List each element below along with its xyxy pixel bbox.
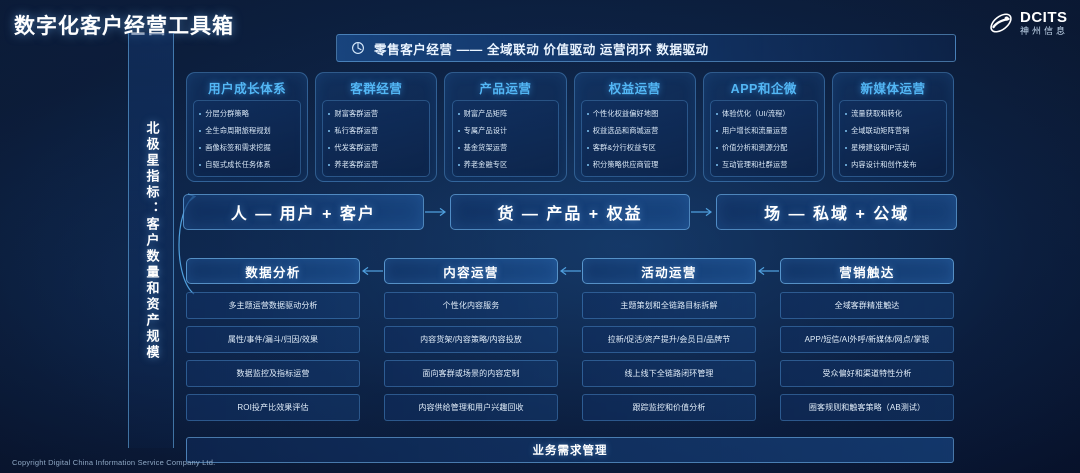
north-star-label: 北极星指标：客户数量和资产规模 <box>144 121 159 361</box>
card-bullet: 体验优化（UI/流程） <box>716 109 814 119</box>
card-bullet: 权益选品和商城运营 <box>587 126 685 136</box>
section-cell[interactable]: 内容供给管理和用户兴趣回收 <box>384 394 558 421</box>
bullet-dot-icon <box>328 113 330 115</box>
card-bullet: 自驱式成长任务体系 <box>199 160 297 170</box>
card-bullet-label: 客群&分行权益专区 <box>593 143 656 153</box>
capability-card[interactable]: 新媒体运营 流量获取和转化 全域联动矩阵营销 星榜建设和IP活动 内容设计和创作… <box>832 72 954 182</box>
card-body: 分层分群策略 全生命周期旅程规划 画像标签和需求挖掘 自驱式成长任务体系 <box>193 100 301 177</box>
capability-card[interactable]: 权益运营 个性化权益偏好地图 权益选品和商城运营 客群&分行权益专区 积分策略供… <box>574 72 696 182</box>
card-bullet-label: 养老客群运营 <box>334 160 378 170</box>
card-bullet: 积分策略供应商管理 <box>587 160 685 170</box>
section-cell[interactable]: 个性化内容服务 <box>384 292 558 319</box>
bullet-dot-icon <box>587 113 589 115</box>
card-bullet: 全域联动矩阵营销 <box>845 126 943 136</box>
bullet-dot-icon <box>587 130 589 132</box>
section-cell-label: 面向客群或场景的内容定制 <box>422 368 519 379</box>
section-column-data-analysis: 数据分析 多主题运营数据驱动分析 属性/事件/漏斗/归因/效果 数据监控及指标运… <box>186 258 360 428</box>
section-cell[interactable]: 跟踪监控和价值分析 <box>582 394 756 421</box>
section-cell-label: 拉新/促活/资产提升/会员日/品牌节 <box>608 334 731 345</box>
card-bullet-label: 积分策略供应商管理 <box>593 160 659 170</box>
section-cell[interactable]: ROI投产比效果评估 <box>186 394 360 421</box>
card-bullet-label: 体验优化（UI/流程） <box>722 109 790 119</box>
capability-card[interactable]: 产品运营 财富产品矩阵 专属产品设计 基金货架运营 养老金融专区 <box>444 72 566 182</box>
card-bullet-label: 权益选品和商城运营 <box>593 126 659 136</box>
card-bullet: 养老金融专区 <box>458 160 556 170</box>
section-cell-label: 受众偏好和渠道特性分析 <box>822 368 911 379</box>
card-bullet: 个性化权益偏好地图 <box>587 109 685 119</box>
bullet-dot-icon <box>328 164 330 166</box>
slide-canvas: 数字化客户经营工具箱 DCITS 神州信息 北极星指标：客户数量和资产规模 <box>0 0 1080 473</box>
card-bullet-label: 画像标签和需求挖掘 <box>205 143 271 153</box>
section-cell-label: 数据监控及指标运营 <box>237 368 310 379</box>
capability-card[interactable]: 用户成长体系 分层分群策略 全生命周期旅程规划 画像标签和需求挖掘 自驱式成长任… <box>186 72 308 182</box>
flow-box-goods[interactable]: 货 — 产品 + 权益 <box>450 194 691 230</box>
section-cell-label: ROI投产比效果评估 <box>237 402 308 413</box>
arrow-left-icon <box>558 258 582 284</box>
section-column-campaign-ops: 活动运营 主题策划和全链路目标拆解 拉新/促活/资产提升/会员日/品牌节 线上线… <box>582 258 756 428</box>
brand-logo: DCITS 神州信息 <box>988 10 1068 36</box>
footer-bar-label: 业务需求管理 <box>533 442 608 458</box>
capability-card-row: 用户成长体系 分层分群策略 全生命周期旅程规划 画像标签和需求挖掘 自驱式成长任… <box>186 72 954 182</box>
section-cell-label: 主题策划和全链路目标拆解 <box>620 300 717 311</box>
card-bullet-label: 自驱式成长任务体系 <box>205 160 271 170</box>
bullet-dot-icon <box>458 147 460 149</box>
capability-card[interactable]: APP和企微 体验优化（UI/流程） 用户增长和流量运营 价值分析和资源分配 互… <box>703 72 825 182</box>
card-bullet: 代发客群运营 <box>328 143 426 153</box>
section-cell[interactable]: 主题策划和全链路目标拆解 <box>582 292 756 319</box>
page-title: 数字化客户经营工具箱 <box>14 10 234 40</box>
bullet-dot-icon <box>199 130 201 132</box>
card-bullet: 养老客群运营 <box>328 160 426 170</box>
bullet-dot-icon <box>845 130 847 132</box>
headline-banner: 零售客户经营 —— 全域联动 价值驱动 运营闭环 数据驱动 <box>336 34 956 62</box>
section-header-label: 内容运营 <box>443 262 499 281</box>
card-bullet: 价值分析和资源分配 <box>716 143 814 153</box>
bullet-dot-icon <box>199 164 201 166</box>
section-column-content-ops: 内容运营 个性化内容服务 内容货架/内容策略/内容投放 面向客群或场景的内容定制… <box>384 258 558 428</box>
card-bullet: 财富客群运营 <box>328 109 426 119</box>
card-bullet: 分层分群策略 <box>199 109 297 119</box>
card-bullet: 用户增长和流量运营 <box>716 126 814 136</box>
section-header-label: 营销触达 <box>839 262 895 281</box>
card-bullet: 流量获取和转化 <box>845 109 943 119</box>
refresh-cycle-icon <box>351 41 365 55</box>
card-title: 用户成长体系 <box>208 78 286 97</box>
section-cell-label: 内容货架/内容策略/内容投放 <box>420 334 522 345</box>
card-bullet: 画像标签和需求挖掘 <box>199 143 297 153</box>
card-bullet: 星榜建设和IP活动 <box>845 143 943 153</box>
operations-section-row: 数据分析 多主题运营数据驱动分析 属性/事件/漏斗/归因/效果 数据监控及指标运… <box>186 258 954 428</box>
card-bullet-label: 专属产品设计 <box>464 126 508 136</box>
arrow-left-icon <box>360 258 384 284</box>
card-bullet-label: 流量获取和转化 <box>851 109 902 119</box>
card-title: 客群经营 <box>350 78 402 97</box>
headline-banner-text: 零售客户经营 —— 全域联动 价值驱动 运营闭环 数据驱动 <box>374 39 709 58</box>
bullet-dot-icon <box>587 164 589 166</box>
card-body: 流量获取和转化 全域联动矩阵营销 星榜建设和IP活动 内容设计和创作发布 <box>839 100 947 177</box>
card-bullet: 基金货架运营 <box>458 143 556 153</box>
section-cell-label: 属性/事件/漏斗/归因/效果 <box>228 334 318 345</box>
card-bullet-label: 私行客群运营 <box>334 126 378 136</box>
section-header[interactable]: 活动运营 <box>582 258 756 284</box>
section-cell[interactable]: 拉新/促活/资产提升/会员日/品牌节 <box>582 326 756 353</box>
logo-name-cn: 神州信息 <box>1020 27 1068 36</box>
card-bullet: 全生命周期旅程规划 <box>199 126 297 136</box>
section-cell-label: 个性化内容服务 <box>443 300 500 311</box>
card-bullet-label: 代发客群运营 <box>334 143 378 153</box>
card-title: 产品运营 <box>479 78 531 97</box>
section-cell[interactable]: 多主题运营数据驱动分析 <box>186 292 360 319</box>
bullet-dot-icon <box>328 147 330 149</box>
logo-name-en: DCITS <box>1020 10 1068 25</box>
section-cell-label: 跟踪监控和价值分析 <box>633 402 706 413</box>
flow-box-label: 货 — 产品 + 权益 <box>497 200 642 224</box>
bullet-dot-icon <box>716 147 718 149</box>
arrow-left-icon <box>756 258 780 284</box>
bullet-dot-icon <box>845 113 847 115</box>
section-header-label: 数据分析 <box>245 262 301 281</box>
bullet-dot-icon <box>458 113 460 115</box>
flow-box-place[interactable]: 场 — 私域 + 公域 <box>716 194 957 230</box>
card-bullet-label: 用户增长和流量运营 <box>722 126 788 136</box>
section-cell-label: 全域客群精准触达 <box>835 300 900 311</box>
section-cell-label: 多主题运营数据驱动分析 <box>228 300 317 311</box>
section-cell[interactable]: 圈客规则和触客策略（AB测试） <box>780 394 954 421</box>
bullet-dot-icon <box>845 147 847 149</box>
section-cell[interactable]: 数据监控及指标运营 <box>186 360 360 387</box>
card-title: 新媒体运营 <box>860 78 925 97</box>
card-bullet: 专属产品设计 <box>458 126 556 136</box>
card-bullet-label: 全生命周期旅程规划 <box>205 126 271 136</box>
flow-box-label: 人 — 用户 + 客户 <box>231 200 376 224</box>
section-header[interactable]: 内容运营 <box>384 258 558 284</box>
card-bullet-label: 养老金融专区 <box>464 160 508 170</box>
bullet-dot-icon <box>716 164 718 166</box>
bullet-dot-icon <box>199 147 201 149</box>
section-cell[interactable]: 受众偏好和渠道特性分析 <box>780 360 954 387</box>
bullet-dot-icon <box>458 130 460 132</box>
section-cell-label: 线上线下全链路闭环管理 <box>624 368 713 379</box>
bullet-dot-icon <box>199 113 201 115</box>
card-bullet-label: 互动管理和社群运营 <box>722 160 788 170</box>
section-cell[interactable]: 属性/事件/漏斗/归因/效果 <box>186 326 360 353</box>
flow-row: 人 — 用户 + 客户 货 — 产品 + 权益 场 — 私域 + 公域 <box>183 192 957 232</box>
card-bullet: 财富产品矩阵 <box>458 109 556 119</box>
section-cell-label: 内容供给管理和用户兴趣回收 <box>418 402 523 413</box>
bullet-dot-icon <box>587 147 589 149</box>
arrow-right-icon <box>690 206 716 218</box>
card-bullet-label: 财富产品矩阵 <box>464 109 508 119</box>
section-header-label: 活动运营 <box>641 262 697 281</box>
card-body: 体验优化（UI/流程） 用户增长和流量运营 价值分析和资源分配 互动管理和社群运… <box>710 100 818 177</box>
flow-box-label: 场 — 私域 + 公域 <box>764 200 909 224</box>
copyright-notice: Copyright Digital China Information Serv… <box>12 458 215 467</box>
bullet-dot-icon <box>458 164 460 166</box>
section-cell[interactable]: 全域客群精准触达 <box>780 292 954 319</box>
card-bullet-label: 基金货架运营 <box>464 143 508 153</box>
card-bullet-label: 财富客群运营 <box>334 109 378 119</box>
section-cell-label: 圈客规则和触客策略（AB测试） <box>809 402 925 413</box>
capability-card[interactable]: 客群经营 财富客群运营 私行客群运营 代发客群运营 养老客群运营 <box>315 72 437 182</box>
card-bullet: 互动管理和社群运营 <box>716 160 814 170</box>
card-bullet-label: 个性化权益偏好地图 <box>593 109 659 119</box>
card-body: 财富客群运营 私行客群运营 代发客群运营 养老客群运营 <box>322 100 430 177</box>
card-title: 权益运营 <box>609 78 661 97</box>
card-title: APP和企微 <box>731 78 797 97</box>
card-body: 财富产品矩阵 专属产品设计 基金货架运营 养老金融专区 <box>452 100 560 177</box>
bullet-dot-icon <box>328 130 330 132</box>
flow-box-people[interactable]: 人 — 用户 + 客户 <box>183 194 424 230</box>
section-header[interactable]: 营销触达 <box>780 258 954 284</box>
section-header[interactable]: 数据分析 <box>186 258 360 284</box>
footer-bar[interactable]: 业务需求管理 <box>186 437 954 463</box>
card-body: 个性化权益偏好地图 权益选品和商城运营 客群&分行权益专区 积分策略供应商管理 <box>581 100 689 177</box>
arrow-right-icon <box>424 206 450 218</box>
bullet-dot-icon <box>716 130 718 132</box>
section-cell-label: APP/短信/AI外呼/新媒体/网点/掌银 <box>805 334 930 345</box>
card-bullet: 私行客群运营 <box>328 126 426 136</box>
section-cell[interactable]: 线上线下全链路闭环管理 <box>582 360 756 387</box>
card-bullet-label: 全域联动矩阵营销 <box>851 126 909 136</box>
card-bullet: 内容设计和创作发布 <box>845 160 943 170</box>
card-bullet-label: 价值分析和资源分配 <box>722 143 788 153</box>
card-bullet: 客群&分行权益专区 <box>587 143 685 153</box>
bullet-dot-icon <box>716 113 718 115</box>
section-cell[interactable]: 内容货架/内容策略/内容投放 <box>384 326 558 353</box>
bullet-dot-icon <box>845 164 847 166</box>
dcits-swirl-icon <box>988 10 1014 36</box>
card-bullet-label: 分层分群策略 <box>205 109 249 119</box>
card-bullet-label: 内容设计和创作发布 <box>851 160 917 170</box>
section-column-marketing-reach: 营销触达 全域客群精准触达 APP/短信/AI外呼/新媒体/网点/掌银 受众偏好… <box>780 258 954 428</box>
section-cell[interactable]: 面向客群或场景的内容定制 <box>384 360 558 387</box>
section-cell[interactable]: APP/短信/AI外呼/新媒体/网点/掌银 <box>780 326 954 353</box>
card-bullet-label: 星榜建设和IP活动 <box>851 143 909 153</box>
